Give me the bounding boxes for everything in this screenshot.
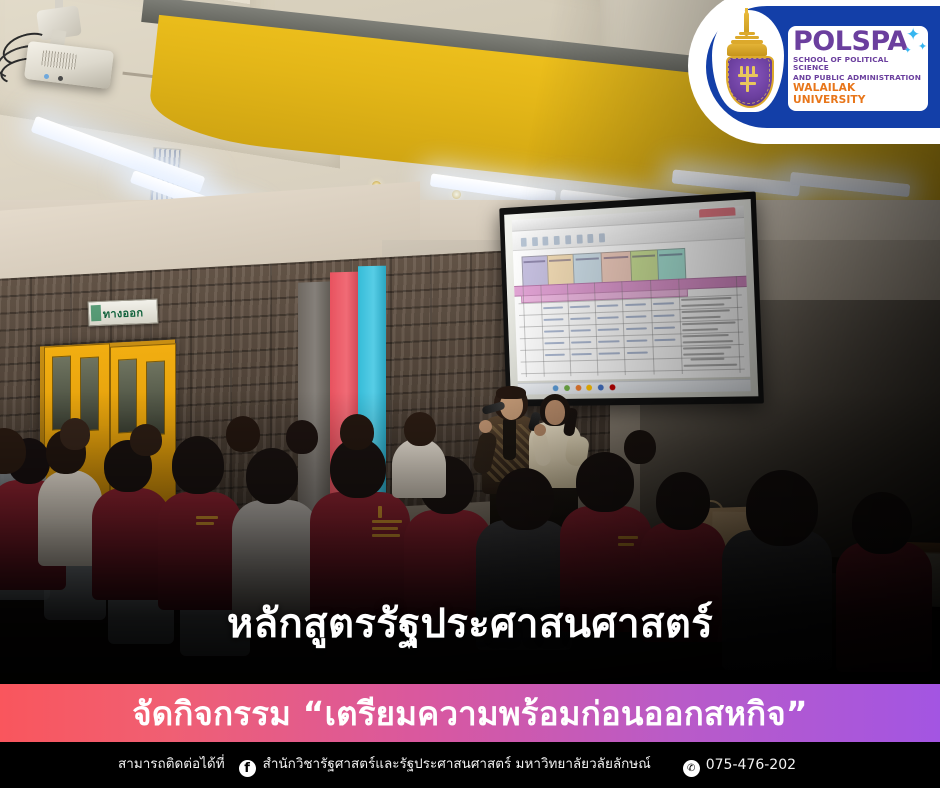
projector-lens [58, 76, 63, 81]
projection-screen [499, 191, 764, 406]
exit-sign: ทางออก [88, 299, 159, 327]
header-cell [601, 250, 632, 283]
ribbon-icon [599, 233, 605, 242]
header-cell [572, 252, 602, 284]
exit-pictogram-icon [91, 305, 102, 321]
facebook-page-name[interactable]: สำนักวิชารัฐศาสตร์และรัฐประศาสนศาสตร์ มห… [263, 758, 651, 772]
ribbon-icon [588, 234, 594, 243]
door-glass-panel [118, 359, 137, 434]
header-cell [630, 249, 659, 282]
poster-root: ทางออก [0, 0, 940, 788]
footer-contact-bar: สามารถติดต่อได้ที่ f สำนักวิชารัฐศาสตร์แ… [0, 742, 940, 788]
projection-screen-surface [504, 199, 758, 400]
header-cell [547, 253, 575, 285]
header-cell [521, 255, 548, 287]
subhead-gradient-bar: จัดกิจกรรม “เตรียมความพร้อมก่อนออกสหกิจ” [0, 684, 940, 742]
facebook-icon[interactable]: f [239, 760, 256, 777]
downlight [452, 190, 461, 199]
ribbon-icon [543, 236, 549, 245]
header-cell [657, 247, 686, 280]
ribbon-icon [521, 238, 527, 247]
ribbon-icon [576, 235, 582, 244]
phone-number[interactable]: 075-476-202 [706, 757, 796, 773]
spreadsheet-header-row [512, 239, 749, 381]
exit-sign-label: ทางออก [102, 303, 143, 323]
event-photograph: ทางออก [0, 0, 940, 700]
projector-power-led [44, 74, 49, 79]
subhead-text: จัดกิจกรรม “เตรียมความพร้อมก่อนออกสหกิจ” [132, 697, 808, 730]
screen-taskbar [517, 379, 750, 395]
poster-headline: หลักสูตรรัฐประศาสนศาสตร์ [0, 602, 940, 647]
contact-prefix-label: สามารถติดต่อได้ที่ [118, 758, 225, 772]
ribbon-icon [565, 235, 571, 244]
phone-icon: ✆ [683, 760, 700, 777]
ribbon-icon [532, 237, 538, 246]
screen-spreadsheet [512, 239, 749, 381]
ribbon-icon [554, 236, 560, 245]
